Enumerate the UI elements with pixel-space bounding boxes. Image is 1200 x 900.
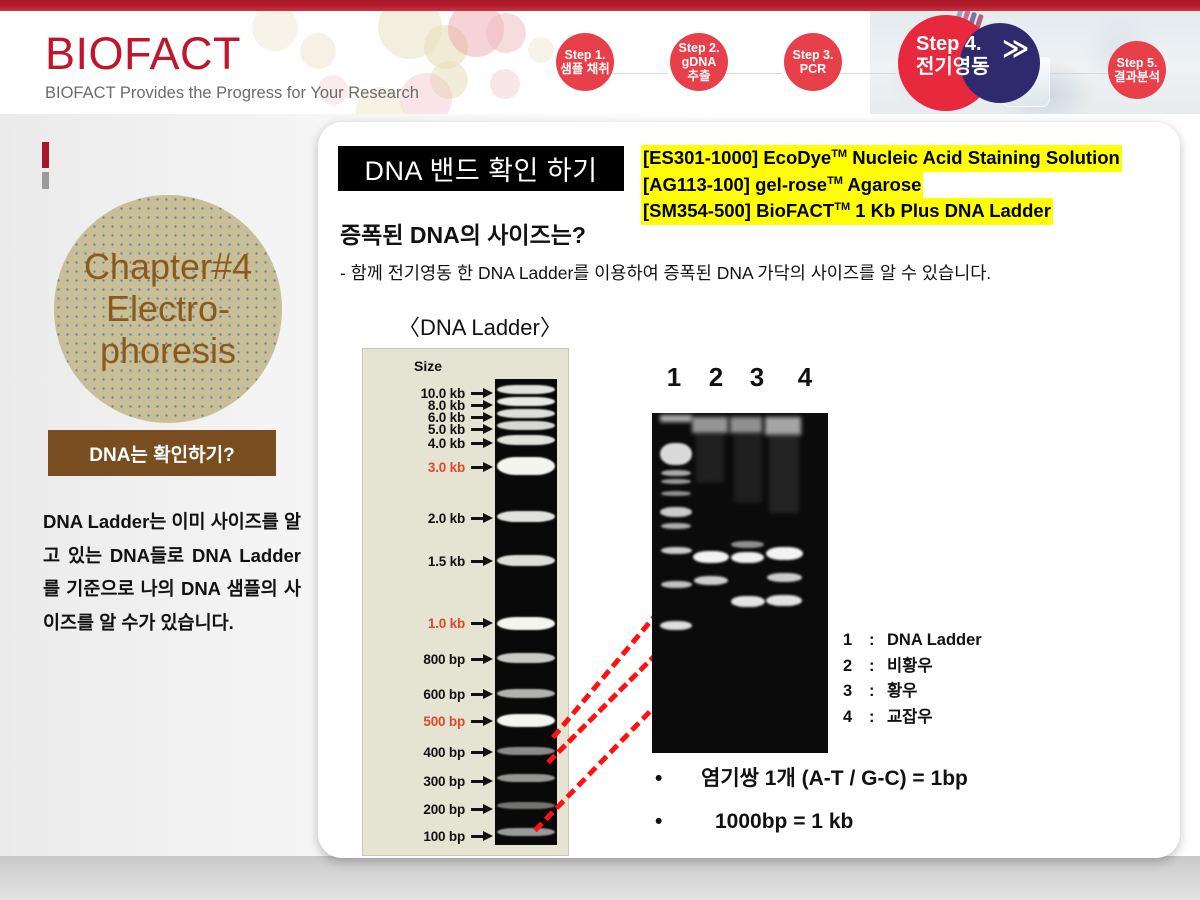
ladder-label-4: 4.0 kb <box>428 436 465 451</box>
step-connector-2 <box>726 73 782 74</box>
product-list: [ES301-1000] EcoDyeTM Nucleic Acid Stain… <box>641 145 1122 225</box>
ladder-row-800bp: 800 bp <box>363 651 493 667</box>
ladder-row-200bp: 200 bp <box>363 801 493 817</box>
product-row-2: [AG113-100] gel-roseTM Agarose <box>641 172 1122 199</box>
accent-mark-gray <box>42 172 49 189</box>
ladder-label-12: 400 bp <box>423 745 465 760</box>
step-1-sample-collection[interactable]: Step 1. 샘플 채취 <box>556 33 614 91</box>
ladder-gel-strip <box>495 379 557 845</box>
legend-colon-4: : <box>869 705 887 731</box>
arrow-icon-11 <box>471 716 493 726</box>
ladder-label-14: 200 bp <box>423 802 465 817</box>
chapter-badge: Chapter#4 Electro- phoresis <box>54 195 282 423</box>
product-1-tm: TM <box>831 148 847 160</box>
ladder-row-1-5kb: 1.5 kb <box>363 553 493 569</box>
legend-row-3: 3:황우 <box>843 679 982 705</box>
slide-root: BIOFACT BIOFACT Provides the Progress fo… <box>0 0 1200 900</box>
step-2-line3: 추출 <box>679 69 720 83</box>
step-2-gdna-extraction[interactable]: Step 2. gDNA 추출 <box>670 33 728 91</box>
dna-check-button[interactable]: DNA는 확인하기? <box>48 430 276 476</box>
bullet-item-1: •염기쌍 1개 (A-T / G-C) = 1bp <box>655 757 968 800</box>
step-2-line1: Step 2. <box>679 41 720 55</box>
bullet-item-2: •1000bp = 1 kb <box>655 800 968 843</box>
ladder-row-1kb: 1.0 kb <box>363 615 493 631</box>
legend-text-3: 황우 <box>887 682 917 700</box>
lane-number-1: 1 <box>652 362 696 393</box>
product-2-code: [AG113-100] <box>643 174 750 195</box>
double-chevron-icon: ≫ <box>1002 33 1027 64</box>
dna-ladder-figure: Size 10.0 kb 8.0 kb 6.0 kb 5.0 kb 4.0 kb… <box>362 348 569 856</box>
product-3-tm: TM <box>834 201 850 213</box>
legend-row-1: 1:DNA Ladder <box>843 628 982 654</box>
gel-legend: 1:DNA Ladder 2:비황우 3:황우 4:교잡우 <box>843 628 982 730</box>
legend-num-4: 4 <box>843 705 869 731</box>
step-3-pcr[interactable]: Step 3. PCR <box>784 33 842 91</box>
legend-num-3: 3 <box>843 679 869 705</box>
legend-colon-3: : <box>869 679 887 705</box>
bullet-text-2: 1000bp = 1 kb <box>715 810 853 833</box>
arrow-icon-3 <box>471 424 493 434</box>
gel-electrophoresis-image <box>652 413 828 753</box>
ladder-label-7: 1.5 kb <box>428 554 465 569</box>
arrow-icon-4 <box>471 438 493 448</box>
sidebar-description: DNA Ladder는 이미 사이즈를 알고 있는 DNA들로 DNA Ladd… <box>43 505 301 640</box>
product-3-rest: 1 Kb Plus DNA Ladder <box>850 200 1051 221</box>
arrow-icon-14 <box>471 804 493 814</box>
ladder-row-3kb: 3.0 kb <box>363 459 493 475</box>
ladder-row-4kb: 4.0 kb <box>363 435 493 451</box>
legend-text-1: DNA Ladder <box>887 631 982 649</box>
arrow-icon-9 <box>471 654 493 664</box>
product-2-rest: Agarose <box>843 174 921 195</box>
legend-text-2: 비황우 <box>887 657 933 675</box>
ladder-label-5: 3.0 kb <box>428 460 465 475</box>
question-heading: 증폭된 DNA의 사이즈는? <box>340 216 586 250</box>
product-1-rest: Nucleic Acid Staining Solution <box>847 147 1120 168</box>
arrow-icon-5 <box>471 462 493 472</box>
ladder-row-600bp: 600 bp <box>363 686 493 702</box>
accent-mark-red <box>42 142 49 168</box>
step-connector-4 <box>1050 73 1108 74</box>
legend-colon-1: : <box>869 628 887 654</box>
ladder-row-300bp: 300 bp <box>363 773 493 789</box>
lane-number-3: 3 <box>736 362 778 393</box>
legend-num-1: 1 <box>843 628 869 654</box>
ladder-row-100bp: 100 bp <box>363 828 493 844</box>
top-red-rule <box>0 0 1200 11</box>
ladder-label-10: 600 bp <box>423 687 465 702</box>
chapter-line-2: Electro- <box>84 288 252 330</box>
lane-number-4: 4 <box>778 362 832 393</box>
bullet-text-1: 염기쌍 1개 (A-T / G-C) = 1bp <box>701 767 968 790</box>
legend-row-4: 4:교잡우 <box>843 705 982 731</box>
bullet-list: •염기쌍 1개 (A-T / G-C) = 1bp •1000bp = 1 kb <box>655 757 968 843</box>
step-1-line2: 샘플 채취 <box>560 62 609 76</box>
gel-lane-numbers: 1 2 3 4 <box>652 362 866 393</box>
ladder-label-9: 800 bp <box>423 652 465 667</box>
arrow-icon-12 <box>471 747 493 757</box>
legend-colon-2: : <box>869 654 887 680</box>
legend-row-2: 2:비황우 <box>843 654 982 680</box>
ladder-size-header: Size <box>363 358 493 374</box>
ladder-label-15: 100 bp <box>423 829 465 844</box>
lane-number-2: 2 <box>696 362 736 393</box>
step-4-line1: Step 4. <box>916 33 990 56</box>
chapter-line-3: phoresis <box>84 330 252 372</box>
product-1-code: [ES301-1000] <box>643 147 758 168</box>
step-3-line1: Step 3. <box>793 48 834 62</box>
arrow-icon-8 <box>471 618 493 628</box>
ladder-row-2kb: 2.0 kb <box>363 510 493 526</box>
product-1-name: EcoDye <box>763 147 831 168</box>
product-row-1: [ES301-1000] EcoDyeTM Nucleic Acid Stain… <box>641 145 1122 172</box>
step-5-line1: Step 5. <box>1114 56 1160 70</box>
ladder-row-500bp: 500 bp <box>363 713 493 729</box>
ladder-label-8: 1.0 kb <box>428 616 465 631</box>
header-band: BIOFACT BIOFACT Provides the Progress fo… <box>0 11 1200 114</box>
page-title: DNA 밴드 확인 하기 <box>338 146 624 191</box>
product-2-tm: TM <box>827 174 843 186</box>
chapter-line-1: Chapter#4 <box>84 246 252 288</box>
legend-num-2: 2 <box>843 654 869 680</box>
ladder-label-6: 2.0 kb <box>428 511 465 526</box>
step-5-line2: 결과분석 <box>1114 70 1160 84</box>
step-connector-3 <box>840 73 896 74</box>
arrow-icon-7 <box>471 556 493 566</box>
arrow-icon-10 <box>471 689 493 699</box>
step-3-line2: PCR <box>793 62 834 76</box>
arrow-icon-15 <box>471 831 493 841</box>
ladder-label-13: 300 bp <box>423 774 465 789</box>
step-5-result-analysis[interactable]: Step 5. 결과분석 <box>1108 41 1166 99</box>
logo-title: BIOFACT <box>45 28 419 80</box>
bullet-dot-1: • <box>655 757 701 800</box>
logo-tagline: BIOFACT Provides the Progress for Your R… <box>45 82 419 104</box>
product-2-name: gel-rose <box>755 174 827 195</box>
bullet-dot-2: • <box>655 800 715 843</box>
brand-logo: BIOFACT BIOFACT Provides the Progress fo… <box>45 28 419 104</box>
product-3-name: BioFACT <box>756 200 834 221</box>
ladder-label-11: 500 bp <box>423 714 465 729</box>
bottom-bar <box>0 856 1200 900</box>
product-row-3: [SM354-500] BioFACTTM 1 Kb Plus DNA Ladd… <box>641 198 1122 225</box>
step-4-line2: 전기영동 <box>916 56 990 79</box>
arrow-icon-13 <box>471 776 493 786</box>
product-3-code: [SM354-500] <box>643 200 751 221</box>
step-2-line2: gDNA <box>679 55 720 69</box>
arrow-icon-6 <box>471 513 493 523</box>
legend-text-4: 교잡우 <box>887 708 933 726</box>
ladder-caption: 〈DNA Ladder〉 <box>398 310 562 342</box>
description-text: - 함께 전기영동 한 DNA Ladder를 이용하여 증폭된 DNA 가닥의… <box>340 260 991 285</box>
ladder-row-400bp: 400 bp <box>363 744 493 760</box>
step-connector-1 <box>612 73 668 74</box>
step-1-line1: Step 1. <box>560 48 609 62</box>
